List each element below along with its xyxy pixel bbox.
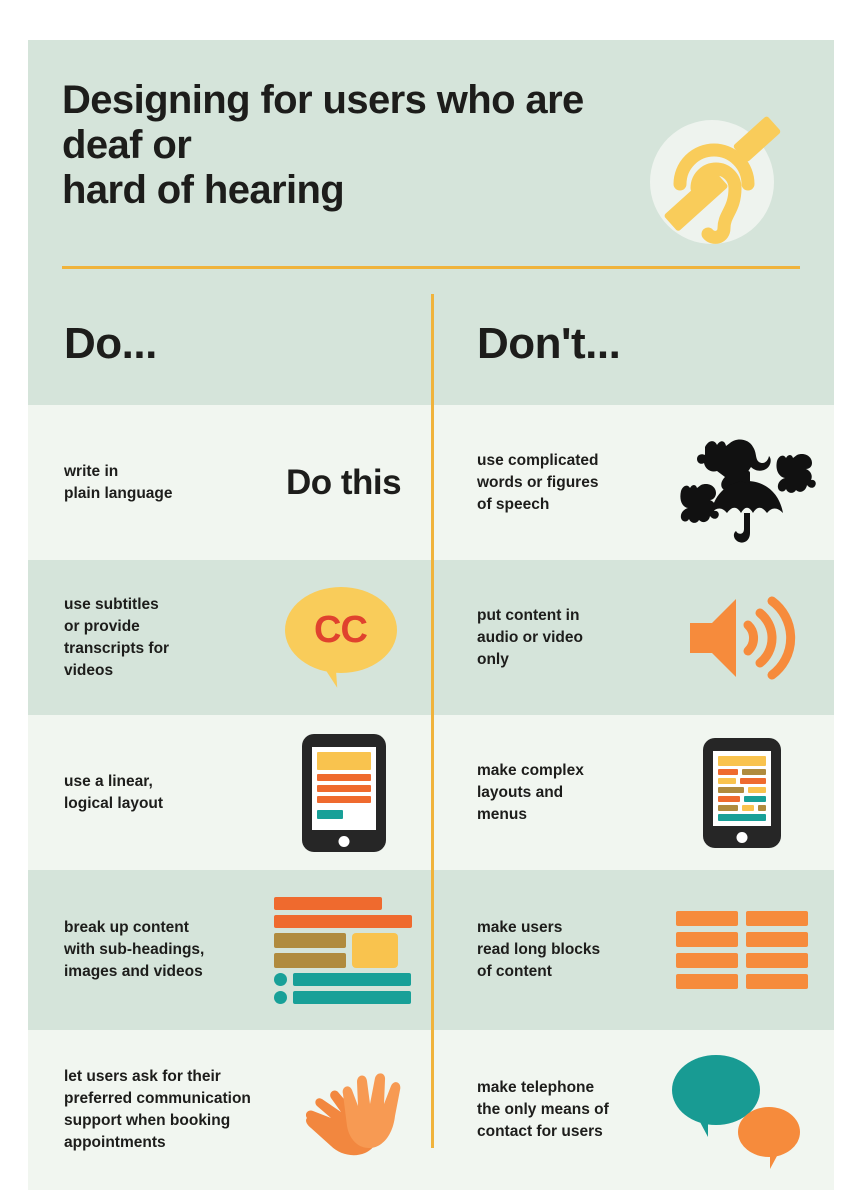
body-bar (274, 953, 346, 968)
dont-cell: make telephone the only means of contact… (431, 1030, 834, 1190)
screen-block (718, 787, 744, 793)
do-column-header: Do... (28, 283, 431, 405)
text-line (676, 953, 738, 968)
do-cell: break up content with sub-headings, imag… (28, 870, 431, 1030)
heading-bar (274, 897, 382, 910)
screen-row (718, 805, 766, 811)
text-line (676, 911, 738, 926)
cc-label: CC (314, 611, 367, 649)
screen-block (718, 796, 740, 802)
image-placeholder (352, 933, 398, 968)
screen-block (718, 805, 739, 811)
home-button-icon (736, 832, 747, 843)
screen-row (718, 778, 766, 784)
speaker-audio-icon (682, 587, 802, 689)
do-this-text-sample: Do this (286, 463, 401, 503)
accessibility-poster: Designing for users who are deaf or hard… (28, 40, 834, 1160)
do-icon-area: CC (256, 560, 431, 715)
text-column (746, 911, 808, 989)
screen-row (718, 796, 766, 802)
dont-icon-area (649, 715, 834, 870)
dont-cell: put content in audio or video only (431, 560, 834, 715)
dont-text: put content in audio or video only (431, 605, 649, 671)
screen-header-bar (317, 752, 371, 770)
do-icon-area: Do this (256, 405, 431, 560)
screen-block (742, 769, 766, 775)
screen-block (718, 769, 738, 775)
sign-language-hands-icon (301, 1054, 411, 1166)
text-line (746, 911, 808, 926)
orange-speech-bubble (738, 1107, 800, 1157)
do-cell: let users ask for their preferred commun… (28, 1030, 431, 1190)
structured-content-blocks-icon (274, 897, 414, 1004)
dont-icon-area (649, 405, 834, 560)
do-text: write in plain language (28, 461, 256, 505)
dont-icon-area (649, 1030, 834, 1190)
text-line (746, 974, 808, 989)
body-bar (274, 933, 346, 948)
device-screen (312, 747, 376, 830)
bubble-body: CC (285, 587, 397, 673)
screen-text-bar (317, 785, 371, 792)
text-line (676, 932, 738, 947)
do-text: use subtitles or provide transcripts for… (28, 594, 256, 682)
tablet-simple-layout-icon (302, 734, 386, 852)
bubble-tail (770, 1143, 794, 1169)
do-cell: use a linear, logical layout (28, 715, 431, 870)
speech-bubbles-icon (672, 1051, 812, 1169)
deaf-hard-of-hearing-ear-icon (640, 106, 790, 256)
text-line (676, 974, 738, 989)
bullet-row (274, 973, 414, 986)
do-label: Do... (64, 319, 157, 369)
bullet-dot-icon (274, 991, 287, 1004)
screen-text-bar (317, 796, 371, 803)
screen-block (744, 796, 766, 802)
tablet-complex-layout-icon (703, 738, 781, 848)
screen-block (758, 805, 766, 811)
dont-label: Don't... (477, 319, 620, 369)
text-column (676, 911, 738, 989)
dont-icon-area (649, 870, 834, 1030)
page-title: Designing for users who are deaf or hard… (62, 78, 662, 212)
dont-text: make telephone the only means of contact… (431, 1077, 649, 1143)
bullet-dot-icon (274, 973, 287, 986)
gold-divider-rule (62, 266, 800, 269)
screen-button (317, 810, 343, 819)
content-with-image (274, 933, 414, 968)
screen-row (718, 787, 766, 793)
text-line (746, 953, 808, 968)
screen-footer-bar (718, 814, 766, 821)
closed-captions-bubble-icon: CC (285, 583, 403, 693)
do-cell: write in plain language Do this (28, 405, 431, 560)
home-button-icon (338, 836, 349, 847)
vertical-gold-divider (431, 294, 434, 1148)
screen-header-bar (718, 756, 766, 766)
dont-cell: make complex layouts and menus (431, 715, 834, 870)
bullet-bar (293, 973, 411, 986)
bullet-bar (293, 991, 411, 1004)
text-line (746, 932, 808, 947)
raining-cats-and-dogs-icon (667, 419, 817, 547)
do-icon-area (256, 715, 431, 870)
dont-cell: make users read long blocks of content (431, 870, 834, 1030)
screen-block (748, 787, 766, 793)
dont-column-header: Don't... (431, 283, 834, 405)
screen-block (742, 805, 753, 811)
poster-header: Designing for users who are deaf or hard… (28, 40, 834, 283)
do-text: break up content with sub-headings, imag… (28, 917, 256, 983)
do-icon-area (280, 1030, 431, 1190)
do-text: use a linear, logical layout (28, 771, 256, 815)
screen-text-bar (317, 774, 371, 781)
text-column (274, 933, 346, 968)
do-icon-area (256, 870, 431, 1030)
screen-row (718, 769, 766, 775)
heading-bar (274, 915, 412, 928)
dont-cell: use complicated words or figures of spee… (431, 405, 834, 560)
dont-icon-area (649, 560, 834, 715)
device-screen (713, 751, 771, 826)
dont-text: make complex layouts and menus (431, 760, 649, 826)
bullet-row (274, 991, 414, 1004)
do-text: let users ask for their preferred commun… (28, 1066, 280, 1154)
dont-text: make users read long blocks of content (431, 917, 649, 983)
bubble-tail (680, 1107, 708, 1137)
do-cell: use subtitles or provide transcripts for… (28, 560, 431, 715)
screen-block (718, 778, 736, 784)
dont-text: use complicated words or figures of spee… (431, 450, 649, 516)
dense-text-blocks-icon (676, 911, 808, 989)
screen-block (740, 778, 766, 784)
